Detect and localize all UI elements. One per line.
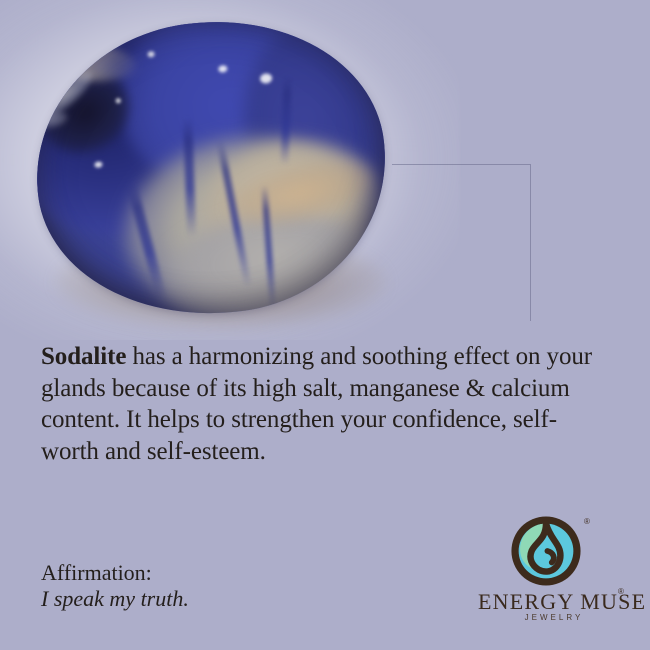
affirmation-block: Affirmation: I speak my truth. (41, 560, 421, 612)
energy-muse-wordmark: ENERGY MUSE (478, 589, 630, 615)
crystal-info-card: Sodalite has a harmonizing and soothing … (0, 0, 650, 650)
affirmation-text: I speak my truth. (41, 586, 421, 612)
sodalite-stone-image (28, 16, 398, 326)
wordmark-registered-mark: ® (618, 587, 624, 596)
affirmation-label: Affirmation: (41, 560, 421, 586)
description-text: Sodalite has a harmonizing and soothing … (41, 341, 593, 467)
stone-photo (0, 0, 650, 340)
energy-muse-subtext: JEWELRY (478, 613, 630, 622)
description-block: Sodalite has a harmonizing and soothing … (41, 341, 593, 467)
energy-muse-swirl-icon (510, 515, 582, 587)
registered-trademark-mark: ® (584, 517, 590, 526)
crystal-name: Sodalite (41, 343, 126, 370)
energy-muse-logo[interactable]: ® ENERGY MUSE ® JEWELRY (478, 515, 630, 627)
